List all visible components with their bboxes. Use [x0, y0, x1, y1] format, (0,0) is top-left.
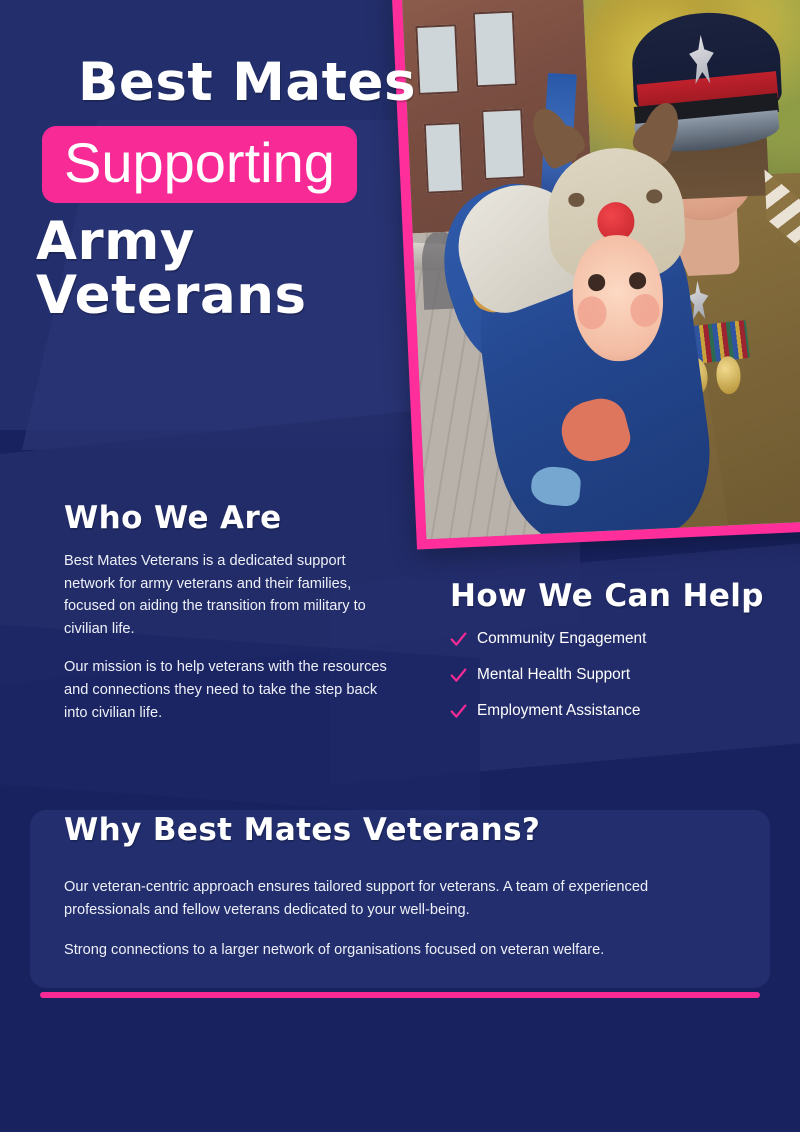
- check-icon: [450, 703, 467, 720]
- headline-line-3: Army Veterans: [34, 215, 434, 323]
- help-list-item: Mental Health Support: [450, 666, 770, 684]
- why-best-mates-paragraph-1: Our veteran-centric approach ensures tai…: [64, 876, 736, 921]
- headline-highlight: Supporting: [42, 126, 357, 203]
- help-item-label: Mental Health Support: [477, 666, 630, 684]
- poster: Best Mates Supporting Army Veterans Who …: [0, 0, 800, 1132]
- how-we-can-help-heading: How We Can Help: [450, 578, 770, 614]
- help-item-label: Employment Assistance: [477, 702, 640, 720]
- why-best-mates-heading: Why Best Mates Veterans?: [64, 812, 736, 848]
- help-item-label: Community Engagement: [477, 630, 646, 648]
- help-list-item: Employment Assistance: [450, 702, 770, 720]
- who-we-are-paragraph-2: Our mission is to help veterans with the…: [64, 656, 394, 724]
- headline-line-1: Best Mates: [34, 56, 434, 110]
- who-we-are-paragraph-1: Best Mates Veterans is a dedicated suppo…: [64, 550, 394, 640]
- help-list-item: Community Engagement: [450, 630, 770, 648]
- section-how-we-can-help: How We Can Help Community Engagement Men…: [450, 578, 770, 738]
- section-why-best-mates: Why Best Mates Veterans? Our veteran-cen…: [30, 810, 770, 988]
- hero-photo: [402, 0, 800, 539]
- check-icon: [450, 667, 467, 684]
- footer-divider: [40, 992, 760, 998]
- who-we-are-heading: Who We Are: [64, 500, 394, 536]
- poster-headline: Best Mates Supporting Army Veterans: [34, 56, 434, 323]
- check-icon: [450, 631, 467, 648]
- poster-footer: Scan the QR to learn more or get in touc…: [0, 1008, 800, 1132]
- why-best-mates-paragraph-2: Strong connections to a larger network o…: [64, 939, 736, 962]
- section-who-we-are: Who We Are Best Mates Veterans is a dedi…: [64, 500, 394, 740]
- hero-photo-frame: [391, 0, 800, 550]
